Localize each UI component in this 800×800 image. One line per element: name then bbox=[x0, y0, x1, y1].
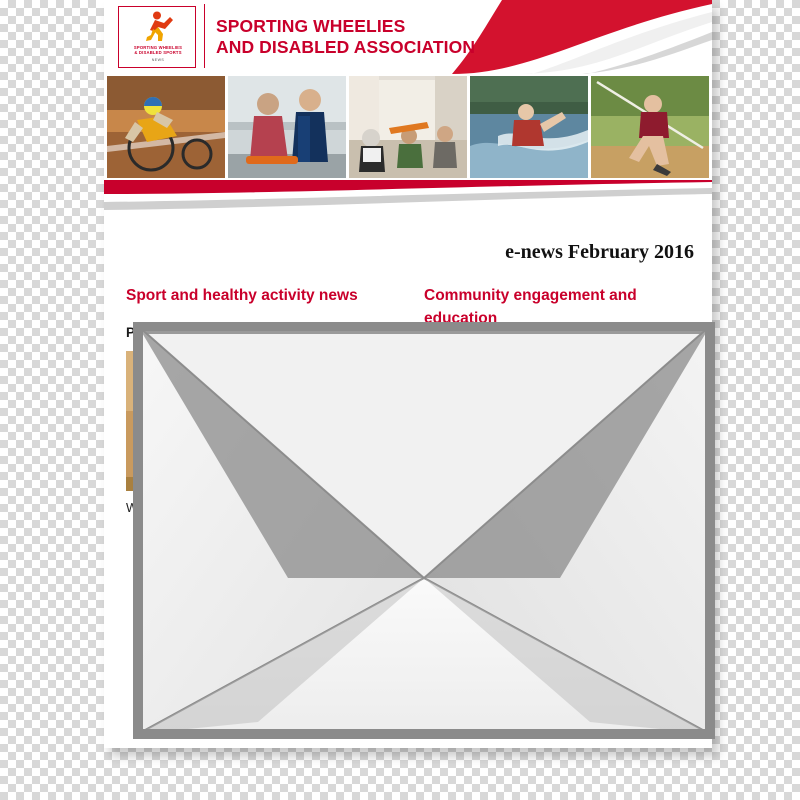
logo-wordmark: SPORTING WHEELIES & DISABLED SPORTS bbox=[122, 45, 194, 56]
photo-strip bbox=[104, 74, 712, 180]
article-caption-left: Wheelchair basketball players in action bbox=[126, 499, 394, 518]
hero-bottom-swoosh bbox=[104, 180, 712, 222]
article-image-golf bbox=[424, 414, 682, 554]
column-community-engagement: Community engagement and education Golf … bbox=[424, 284, 692, 562]
header-divider bbox=[204, 4, 205, 68]
article-headline-right: Golf empowering people with a disability… bbox=[424, 346, 692, 406]
column-heading-right: Community engagement and education bbox=[424, 284, 692, 330]
logo-box: SPORTING WHEELIES & DISABLED SPORTS NEWS bbox=[118, 6, 196, 68]
logo-subtext: NEWS bbox=[122, 58, 194, 62]
newsletter-header: SPORTING WHEELIES & DISABLED SPORTS NEWS… bbox=[104, 0, 712, 74]
indoor-activity-photo bbox=[349, 76, 467, 178]
svg-text:24: 24 bbox=[197, 368, 220, 390]
issue-label: e-news February 2016 bbox=[505, 241, 694, 264]
wheelchair-racing-photo bbox=[107, 76, 225, 178]
organization-title: SPORTING WHEELIES AND DISABLED ASSOCIATI… bbox=[216, 16, 475, 58]
javelin-athlete-photo bbox=[591, 76, 709, 178]
article-headline-left: Players ready to blitz Southern challeng… bbox=[126, 323, 394, 343]
article-image-basketball: 24 bbox=[126, 351, 384, 491]
newsletter-page: SPORTING WHEELIES & DISABLED SPORTS NEWS… bbox=[104, 0, 712, 748]
column-sport-news: Sport and healthy activity news Players … bbox=[126, 284, 394, 518]
gym-training-photo bbox=[228, 76, 346, 178]
hero-swoosh-graphic bbox=[104, 180, 712, 222]
column-heading-left: Sport and healthy activity news bbox=[126, 284, 394, 307]
athlete-logo-icon bbox=[137, 10, 179, 44]
water-skiing-photo bbox=[470, 76, 588, 178]
